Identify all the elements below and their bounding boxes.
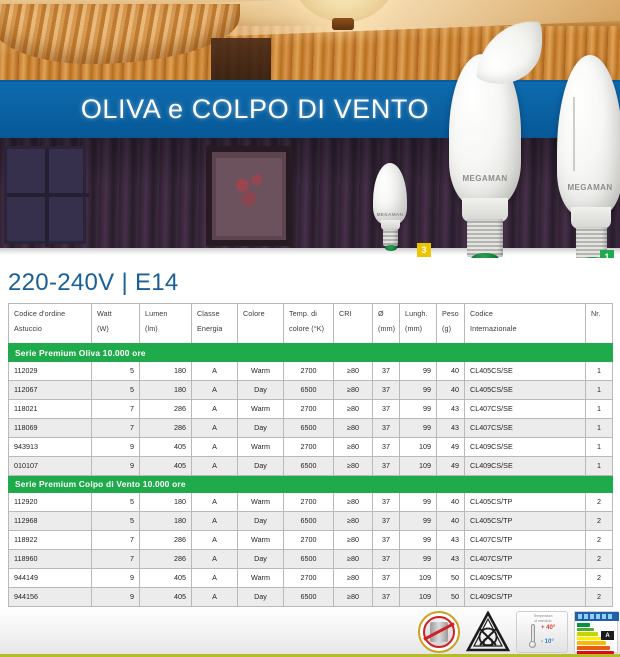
table-cell: 2 <box>586 492 613 511</box>
table-cell: 112067 <box>9 380 92 399</box>
page-footer: Temperatura di esercizio + 40° - 10° <box>0 607 620 657</box>
thermometer-glyph <box>529 624 536 650</box>
table-cell: ≥80 <box>334 456 373 475</box>
table-cell: 943913 <box>9 437 92 456</box>
col-header-codice-ordine: Codice d'ordine Astuccio <box>9 304 92 344</box>
table-cell: 2 <box>586 549 613 568</box>
table-cell: 010107 <box>9 456 92 475</box>
table-cell: ≥80 <box>334 380 373 399</box>
table-cell: 112029 <box>9 361 92 380</box>
table-cell: 99 <box>400 549 437 568</box>
bulb-contact-tip <box>385 245 397 251</box>
table-cell: CL409CS/TP <box>465 587 586 606</box>
table-cell: ≥80 <box>334 549 373 568</box>
table-cell: 2700 <box>284 437 334 456</box>
table-row: 9441499405AWarm2700≥803710950CL409CS/TP2 <box>9 568 613 587</box>
table-cell: CL409CS/TP <box>465 568 586 587</box>
table-cell: 1 <box>586 456 613 475</box>
table-cell: 43 <box>437 418 465 437</box>
bulb-contact-tip <box>471 253 499 258</box>
temp-high-value: + 40° <box>541 625 555 631</box>
operating-temperature-icon: Temperatura di esercizio + 40° - 10° <box>516 611 568 653</box>
table-cell: CL405CS/SE <box>465 380 586 399</box>
table-cell: 37 <box>373 568 400 587</box>
table-cell: 109 <box>400 437 437 456</box>
table-row: 9441569405ADay6500≥803710950CL409CS/TP2 <box>9 587 613 606</box>
table-cell: 112968 <box>9 511 92 530</box>
table-cell: 99 <box>400 361 437 380</box>
picture-art-decor <box>216 158 282 236</box>
table-cell: 7 <box>92 399 140 418</box>
table-cell: 5 <box>92 492 140 511</box>
hero-title: OLIVA e COLPO DI VENTO <box>81 94 429 125</box>
table-cell: 944149 <box>9 568 92 587</box>
table-cell: 944156 <box>9 587 92 606</box>
table-cell: Warm <box>238 568 284 587</box>
table-row: 1120675180ADay6500≥80379940CL405CS/SE1 <box>9 380 613 399</box>
table-cell: 37 <box>373 437 400 456</box>
table-cell: 405 <box>140 568 192 587</box>
table-cell: 99 <box>400 399 437 418</box>
table-cell: A <box>192 492 238 511</box>
lamp-stem-decor <box>332 18 354 30</box>
col-header-nr: Nr. <box>586 304 613 344</box>
table-cell: 112920 <box>9 492 92 511</box>
table-section-header: Serie Premium Colpo di Vento 10.000 ore <box>9 475 613 492</box>
table-cell: 37 <box>373 418 400 437</box>
col-header-lumen: Lumen (lm) <box>140 304 192 344</box>
table-cell: A <box>192 511 238 530</box>
table-cell: 37 <box>373 456 400 475</box>
table-cell: A <box>192 418 238 437</box>
table-cell: 99 <box>400 492 437 511</box>
table-cell: 1 <box>586 399 613 418</box>
energy-class-value: A <box>601 631 614 640</box>
table-cell: 9 <box>92 568 140 587</box>
table-cell: 6500 <box>284 456 334 475</box>
table-cell: 43 <box>437 530 465 549</box>
table-cell: 2 <box>586 530 613 549</box>
table-cell: 1 <box>586 437 613 456</box>
table-cell: 9 <box>92 456 140 475</box>
table-cell: 99 <box>400 530 437 549</box>
table-cell: ≥80 <box>334 568 373 587</box>
bulb-number-badge-3: 3 <box>417 243 431 257</box>
bulb-glass <box>557 55 620 217</box>
table-cell: 118069 <box>9 418 92 437</box>
table-cell: 180 <box>140 380 192 399</box>
table-cell: 37 <box>373 587 400 606</box>
bulb-neck <box>571 207 611 229</box>
energy-label-header <box>575 612 619 621</box>
table-cell: 49 <box>437 456 465 475</box>
table-cell: CL405CS/SE <box>465 361 586 380</box>
table-cell: 2700 <box>284 361 334 380</box>
table-cell: CL407CS/TP <box>465 549 586 568</box>
table-cell: ≥80 <box>334 437 373 456</box>
table-cell: Day <box>238 549 284 568</box>
table-cell: 109 <box>400 568 437 587</box>
table-cell: Warm <box>238 399 284 418</box>
table-cell: 405 <box>140 587 192 606</box>
bulb-brand-label: MEGAMAN <box>557 183 620 192</box>
table-cell: 37 <box>373 361 400 380</box>
table-cell: 37 <box>373 511 400 530</box>
table-cell: 286 <box>140 399 192 418</box>
product-bulb-small: MEGAMAN <box>370 163 418 258</box>
temp-low-value: - 10° <box>541 639 554 645</box>
table-cell: 99 <box>400 418 437 437</box>
table-cell: 1 <box>586 380 613 399</box>
table-cell: 37 <box>373 380 400 399</box>
table-cell: A <box>192 549 238 568</box>
table-cell: ≥80 <box>334 361 373 380</box>
table-cell: CL407CS/SE <box>465 399 586 418</box>
table-cell: 286 <box>140 530 192 549</box>
spec-table-container: Codice d'ordine Astuccio Watt (W) Lumen … <box>0 303 620 607</box>
col-header-watt: Watt (W) <box>92 304 140 344</box>
table-cell: 2700 <box>284 399 334 418</box>
table-cell: 2700 <box>284 530 334 549</box>
table-cell: 109 <box>400 587 437 606</box>
table-row: 1189227286AWarm2700≥80379943CL407CS/TP2 <box>9 530 613 549</box>
table-cell: 40 <box>437 380 465 399</box>
table-cell: 118021 <box>9 399 92 418</box>
col-header-classe-energia: Classe Energia <box>192 304 238 344</box>
table-body: Serie Premium Oliva 10.000 ore1120295180… <box>9 344 613 607</box>
table-cell: A <box>192 437 238 456</box>
table-cell: 9 <box>92 587 140 606</box>
bulb-e14-cap <box>467 219 503 257</box>
bulb-number-badge-1: 1 <box>600 250 614 258</box>
table-cell: 2 <box>586 568 613 587</box>
table-cell: A <box>192 380 238 399</box>
table-cell: 49 <box>437 437 465 456</box>
table-row: 1189607286ADay6500≥80379943CL407CS/TP2 <box>9 549 613 568</box>
table-cell: Warm <box>238 437 284 456</box>
col-header-cri: CRI <box>334 304 373 344</box>
table-cell: ≥80 <box>334 530 373 549</box>
doorway-decor <box>211 38 271 80</box>
table-cell: ≥80 <box>334 511 373 530</box>
table-cell: 1 <box>586 418 613 437</box>
table-cell: 405 <box>140 437 192 456</box>
table-cell: 286 <box>140 549 192 568</box>
table-cell: 37 <box>373 530 400 549</box>
table-cell: 40 <box>437 492 465 511</box>
table-cell: 405 <box>140 456 192 475</box>
table-cell: A <box>192 587 238 606</box>
temperature-caption: Temperatura di esercizio <box>517 614 569 623</box>
table-cell: 180 <box>140 511 192 530</box>
bulb-brand-label: MEGAMAN <box>373 212 407 217</box>
col-header-colore: Colore <box>238 304 284 344</box>
table-cell: 109 <box>400 456 437 475</box>
table-cell: A <box>192 530 238 549</box>
table-cell: 6500 <box>284 511 334 530</box>
table-cell: 99 <box>400 380 437 399</box>
col-header-lunghezza: Lungh. (mm) <box>400 304 437 344</box>
section-title: Serie Premium Colpo di Vento 10.000 ore <box>9 475 613 492</box>
section-title: Serie Premium Oliva 10.000 ore <box>9 344 613 362</box>
table-cell: ≥80 <box>334 418 373 437</box>
table-cell: 2 <box>586 511 613 530</box>
col-header-peso: Peso (g) <box>437 304 465 344</box>
table-cell: CL405CS/TP <box>465 492 586 511</box>
product-bulb-colpo-di-vento: MEGAMAN <box>443 22 533 254</box>
product-spec-table: Codice d'ordine Astuccio Watt (W) Lumen … <box>8 303 613 607</box>
table-cell: CL409CS/SE <box>465 437 586 456</box>
table-cell: 37 <box>373 549 400 568</box>
table-cell: 180 <box>140 361 192 380</box>
table-section-header: Serie Premium Oliva 10.000 ore <box>9 344 613 362</box>
table-cell: 6500 <box>284 587 334 606</box>
table-cell: 286 <box>140 418 192 437</box>
window-decor <box>4 146 86 244</box>
table-cell: Day <box>238 511 284 530</box>
bulb-e14-cap <box>383 229 398 246</box>
table-cell: 118922 <box>9 530 92 549</box>
table-cell: A <box>192 456 238 475</box>
page-title: 220-240V | E14 <box>8 269 620 297</box>
table-cell: ≥80 <box>334 399 373 418</box>
table-cell: 43 <box>437 549 465 568</box>
table-cell: 43 <box>437 399 465 418</box>
table-cell: CL405CS/TP <box>465 511 586 530</box>
table-row: 1129205180AWarm2700≥80379940CL405CS/TP2 <box>9 492 613 511</box>
table-cell: Warm <box>238 530 284 549</box>
table-cell: 6500 <box>284 549 334 568</box>
table-cell: Day <box>238 587 284 606</box>
table-row: 1129685180ADay6500≥80379940CL405CS/TP2 <box>9 511 613 530</box>
table-cell: 5 <box>92 511 140 530</box>
bulb-seam <box>573 97 575 171</box>
table-cell: ≥80 <box>334 492 373 511</box>
table-cell: 50 <box>437 568 465 587</box>
table-cell: 7 <box>92 530 140 549</box>
table-header-row: Codice d'ordine Astuccio Watt (W) Lumen … <box>9 304 613 344</box>
table-cell: 5 <box>92 380 140 399</box>
hero-banner-section: OLIVA e COLPO DI VENTO MEGAMAN MEGAMAN M… <box>0 0 620 258</box>
table-cell: CL407CS/TP <box>465 530 586 549</box>
energy-label-icon: A <box>574 611 618 653</box>
col-header-diametro: Ø (mm) <box>373 304 400 344</box>
curtain-valance-decor <box>0 4 240 64</box>
table-cell: Day <box>238 456 284 475</box>
table-cell: 7 <box>92 549 140 568</box>
product-bulb-oliva: MEGAMAN <box>555 55 620 255</box>
no-enclosed-luminaire-icon <box>466 611 510 653</box>
table-cell: 40 <box>437 361 465 380</box>
table-cell: 1 <box>586 361 613 380</box>
table-cell: Warm <box>238 492 284 511</box>
col-header-temp-colore: Temp. di colore (°K) <box>284 304 334 344</box>
table-cell: 7 <box>92 418 140 437</box>
table-cell: 37 <box>373 492 400 511</box>
table-row: 1120295180AWarm2700≥80379940CL405CS/SE1 <box>9 361 613 380</box>
table-row: 1180697286ADay6500≥80379943CL407CS/SE1 <box>9 418 613 437</box>
bulb-brand-label: MEGAMAN <box>449 174 521 183</box>
table-cell: 6500 <box>284 380 334 399</box>
table-cell: ≥80 <box>334 587 373 606</box>
table-cell: 2 <box>586 587 613 606</box>
table-cell: 180 <box>140 492 192 511</box>
table-cell: 5 <box>92 361 140 380</box>
table-cell: 99 <box>400 511 437 530</box>
table-cell: 2700 <box>284 492 334 511</box>
table-cell: CL409CS/SE <box>465 456 586 475</box>
table-cell: A <box>192 399 238 418</box>
table-cell: 37 <box>373 399 400 418</box>
not-dimmable-icon <box>418 611 460 653</box>
table-cell: Day <box>238 418 284 437</box>
col-header-codice-internazionale: Codice Internazionale <box>465 304 586 344</box>
table-cell: 2700 <box>284 568 334 587</box>
table-cell: 50 <box>437 587 465 606</box>
table-cell: CL407CS/SE <box>465 418 586 437</box>
table-row: 9439139405AWarm2700≥803710949CL409CS/SE1 <box>9 437 613 456</box>
table-cell: 118960 <box>9 549 92 568</box>
table-cell: A <box>192 361 238 380</box>
table-row: 1180217286AWarm2700≥80379943CL407CS/SE1 <box>9 399 613 418</box>
table-cell: 40 <box>437 511 465 530</box>
footer-icon-group: Temperatura di esercizio + 40° - 10° <box>418 611 618 653</box>
table-cell: A <box>192 568 238 587</box>
table-cell: 6500 <box>284 418 334 437</box>
table-row: 0101079405ADay6500≥803710949CL409CS/SE1 <box>9 456 613 475</box>
table-cell: 9 <box>92 437 140 456</box>
table-cell: Warm <box>238 361 284 380</box>
table-cell: Day <box>238 380 284 399</box>
